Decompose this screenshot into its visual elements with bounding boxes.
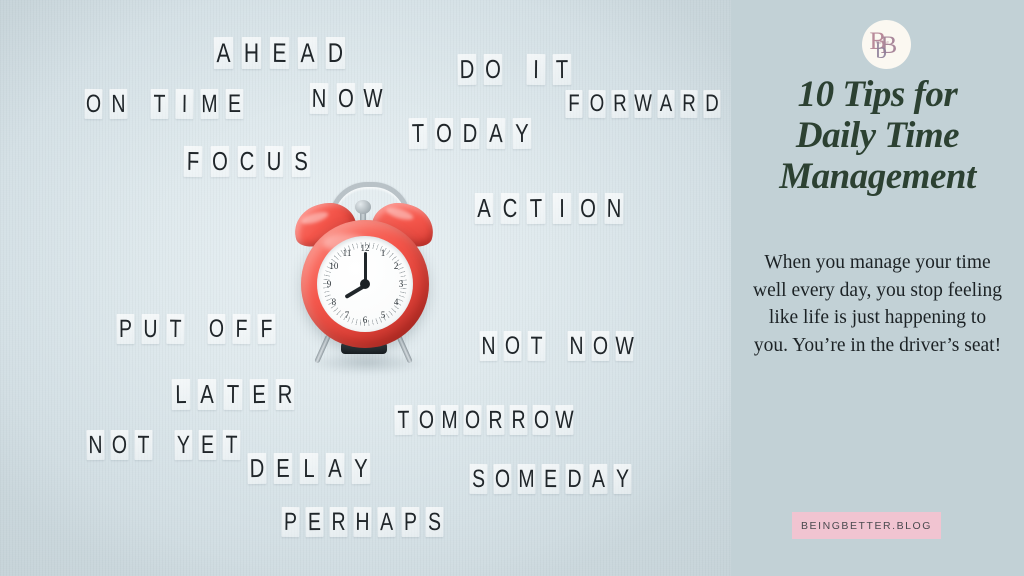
letter-tile: I <box>175 89 193 119</box>
letter-word: NOW <box>307 83 385 114</box>
letter-tile: D <box>703 90 720 118</box>
letter-tile: F <box>183 146 202 177</box>
letter-word: DELAY <box>245 453 373 484</box>
letter-tile: W <box>615 331 633 361</box>
letter-tile: C <box>501 193 520 224</box>
letter-tile: L <box>172 379 191 410</box>
letter-tile: D <box>461 118 480 149</box>
letter-tile: R <box>510 405 528 435</box>
letter-tile: W <box>555 405 573 435</box>
letter-tile: T <box>527 331 545 361</box>
poster-canvas: 121234567891011 AHEADDOITONTIMENOWFORWAR… <box>0 0 1024 576</box>
letter-space <box>508 54 519 85</box>
letter-tile: A <box>657 90 674 118</box>
letter-tile: O <box>484 54 503 85</box>
clock-numeral: 5 <box>377 310 389 320</box>
clock-numeral: 6 <box>359 315 371 325</box>
letter-tile: O <box>84 89 102 119</box>
letter-tile: A <box>298 37 318 69</box>
clock-dial: 121234567891011 <box>317 236 413 332</box>
letter-tile: F <box>232 314 250 344</box>
logo-monogram: B B b being <box>870 30 904 60</box>
title-line-3: Management <box>741 156 1014 197</box>
letter-tile: E <box>199 430 217 460</box>
letter-tile: L <box>300 453 319 484</box>
letter-tile: E <box>270 37 290 69</box>
letter-tile: R <box>330 507 348 537</box>
letter-tile: P <box>401 507 419 537</box>
letter-tile: O <box>588 90 605 118</box>
clock-numeral: 11 <box>341 248 353 258</box>
letter-tile: I <box>526 54 545 85</box>
letter-tile: W <box>364 83 383 114</box>
clock-hammer-head <box>355 200 371 214</box>
letter-tile: F <box>257 314 275 344</box>
letter-tile: R <box>486 405 504 435</box>
letter-tile: T <box>150 89 168 119</box>
bell-highlight <box>300 210 329 227</box>
brand-logo[interactable]: B B b being <box>862 20 911 69</box>
letter-tile: O <box>463 405 481 435</box>
letter-tile: P <box>281 507 299 537</box>
letter-tile: O <box>337 83 356 114</box>
letter-tile: A <box>325 453 344 484</box>
letter-tile: N <box>604 193 623 224</box>
letter-tile: A <box>214 37 234 69</box>
clock-numeral: 1 <box>377 248 389 258</box>
letter-tile: T <box>166 314 184 344</box>
alarm-clock: 121234567891011 <box>289 176 441 388</box>
letter-word: SOMEDAY <box>467 464 634 494</box>
letter-tile: T <box>408 118 427 149</box>
clock-numeral: 4 <box>390 297 402 307</box>
clock-center-pin <box>360 279 370 289</box>
letter-tile: O <box>110 430 128 460</box>
letter-word: AHEAD <box>211 37 348 69</box>
letter-tile: T <box>134 430 152 460</box>
letter-word: DOIT <box>455 54 574 85</box>
letter-tile: H <box>353 507 371 537</box>
letter-word: PERHAPS <box>279 507 446 537</box>
footer-url-label: BEINGBETTER.BLOG <box>801 520 932 532</box>
letter-tile: D <box>457 54 476 85</box>
letter-tile: R <box>611 90 628 118</box>
clock-numeral: 8 <box>328 297 340 307</box>
letter-tile: Y <box>174 430 192 460</box>
letter-tile: U <box>265 146 284 177</box>
letter-tile: A <box>475 193 494 224</box>
letter-tile: T <box>553 54 572 85</box>
letter-tile: W <box>634 90 651 118</box>
letter-tile: S <box>425 507 443 537</box>
letter-tile: O <box>211 146 230 177</box>
letter-tile: N <box>567 331 585 361</box>
photo-panel: 121234567891011 AHEADDOITONTIMENOWFORWAR… <box>0 0 731 576</box>
letter-tile: H <box>242 37 262 69</box>
letter-word: PUTOFF <box>114 314 278 344</box>
body-copy: When you manage your time well every day… <box>752 249 1003 359</box>
letter-tile: N <box>479 331 497 361</box>
footer-url-badge[interactable]: BEINGBETTER.BLOG <box>792 512 941 539</box>
letter-tile: O <box>504 331 522 361</box>
letter-tile: O <box>208 314 226 344</box>
bell-highlight <box>385 205 414 222</box>
letter-tile: D <box>247 453 266 484</box>
letter-tile: M <box>517 464 535 494</box>
page-title: 10 Tips for Daily Time Management <box>741 74 1014 197</box>
letter-tile: U <box>141 314 159 344</box>
letter-tile: R <box>276 379 295 410</box>
clock-numeral: 2 <box>390 261 402 271</box>
letter-tile: O <box>435 118 454 149</box>
letter-tile: E <box>305 507 323 537</box>
clock-numeral: 9 <box>323 279 335 289</box>
letter-space <box>157 430 167 460</box>
letter-tile: P <box>116 314 134 344</box>
letter-tile: E <box>226 89 244 119</box>
letter-word: NOTYET <box>84 430 243 460</box>
letter-word: NOTNOW <box>477 331 636 361</box>
title-line-1: 10 Tips for <box>741 74 1014 115</box>
letter-tile: R <box>680 90 697 118</box>
letter-tile: C <box>238 146 257 177</box>
letter-word: TODAY <box>406 118 534 149</box>
letter-word: TOMORROW <box>392 405 576 435</box>
letter-tile: A <box>198 379 217 410</box>
letter-tile: D <box>326 37 346 69</box>
letter-tile: Y <box>513 118 532 149</box>
clock-numeral: 10 <box>328 261 340 271</box>
letter-tile: I <box>553 193 572 224</box>
letter-tile: O <box>591 331 609 361</box>
clock-numeral: 3 <box>395 279 407 289</box>
letter-space <box>190 314 200 344</box>
letter-tile: T <box>394 405 412 435</box>
clock-case: 121234567891011 <box>301 220 429 348</box>
letter-space <box>133 89 143 119</box>
letter-tile: S <box>291 146 310 177</box>
letter-word: ONTIME <box>82 89 246 119</box>
letter-tile: E <box>541 464 559 494</box>
letter-tile: N <box>309 83 328 114</box>
letter-tile: E <box>249 379 268 410</box>
letter-tile: S <box>469 464 487 494</box>
letter-tile: M <box>440 405 458 435</box>
title-line-2: Daily Time <box>741 115 1014 156</box>
letter-tile: A <box>377 507 395 537</box>
letter-tile: T <box>526 193 545 224</box>
letter-tile: Y <box>614 464 632 494</box>
letter-tile: O <box>579 193 598 224</box>
letter-tile: N <box>109 89 127 119</box>
letter-tile: T <box>224 379 243 410</box>
letter-word: FOCUS <box>181 146 313 177</box>
letter-tile: O <box>532 405 550 435</box>
letter-word: ACTION <box>472 193 626 224</box>
letter-tile: E <box>274 453 293 484</box>
letter-tile: A <box>486 118 505 149</box>
letter-tile: O <box>417 405 435 435</box>
letter-tile: M <box>200 89 218 119</box>
logo-sub-text: being <box>877 41 890 46</box>
letter-tile: O <box>493 464 511 494</box>
letter-tile: D <box>565 464 583 494</box>
letter-word: LATER <box>169 379 297 410</box>
letter-tile: F <box>565 90 582 118</box>
letter-tile: A <box>589 464 607 494</box>
clock-numeral: 7 <box>341 310 353 320</box>
letter-tile: Y <box>352 453 371 484</box>
letter-tile: N <box>86 430 104 460</box>
letter-tile: T <box>222 430 240 460</box>
letter-word: FORWARD <box>563 90 723 118</box>
letter-space <box>550 331 560 361</box>
